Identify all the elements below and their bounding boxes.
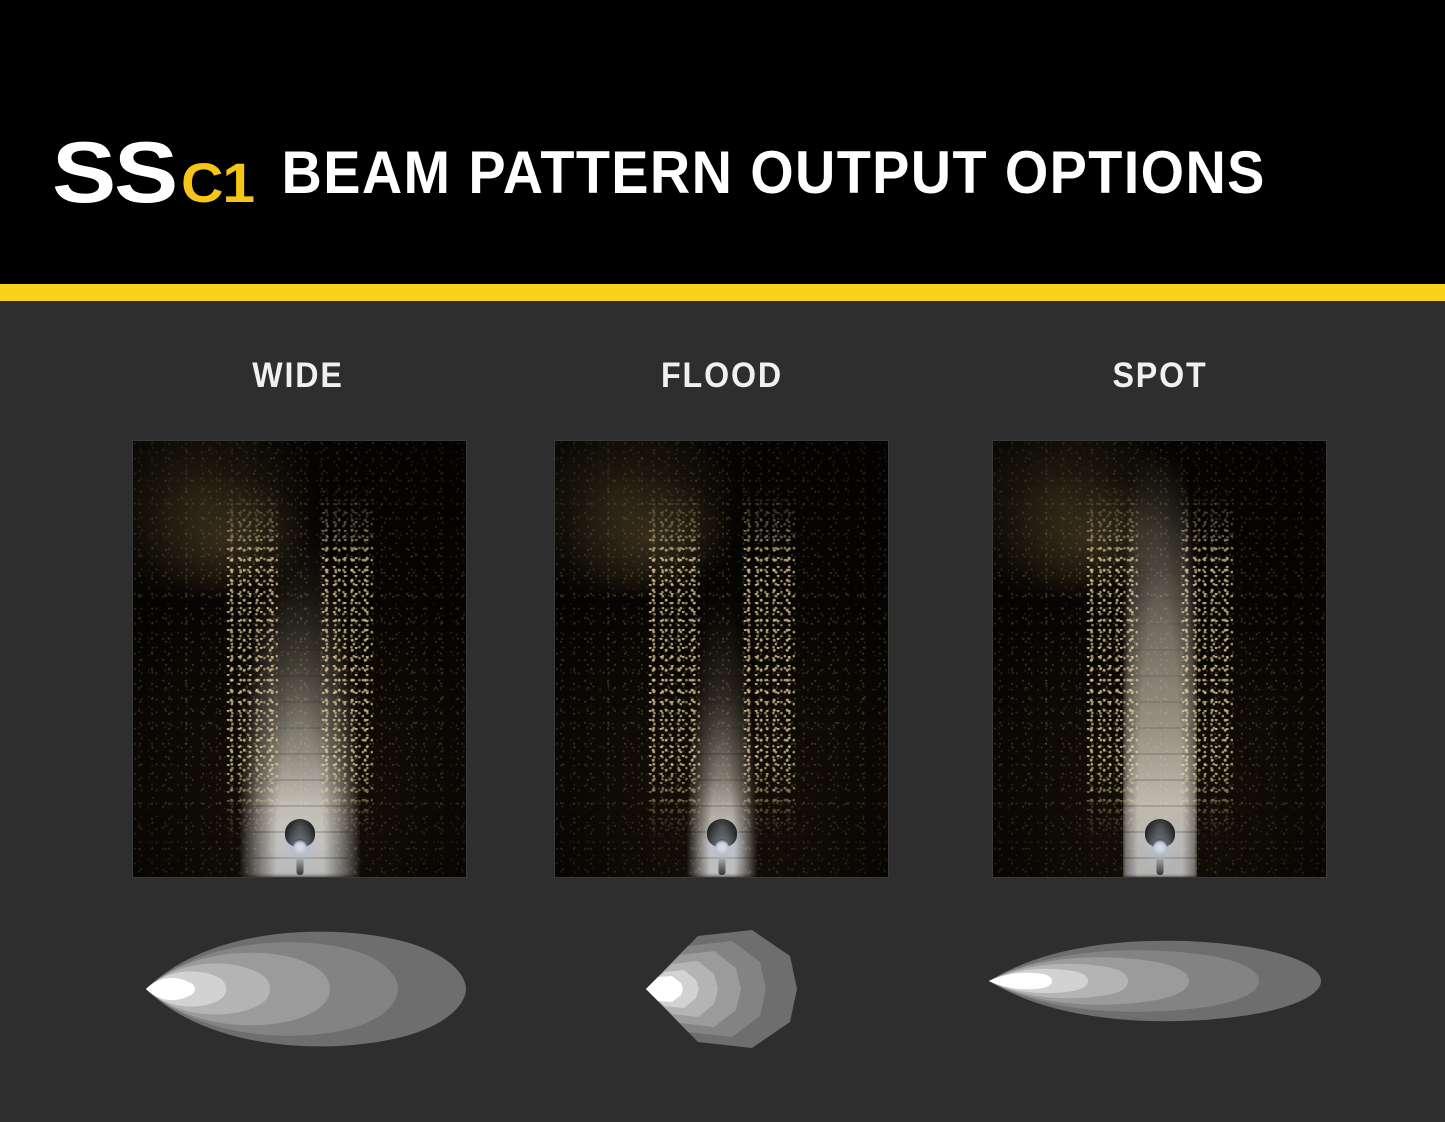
column-label-spot: SPOT — [1004, 358, 1317, 393]
light-source-tail — [718, 857, 725, 875]
photo-road-ruts-wide — [252, 519, 348, 859]
column-label-wide: WIDE — [142, 358, 455, 393]
beam-photo-spot — [993, 441, 1326, 877]
flood-beam-pattern-diagram — [640, 922, 815, 1057]
beam-photo-wide — [133, 441, 466, 877]
header-bar: SS C1 BEAM PATTERN OUTPUT OPTIONS — [0, 0, 1445, 284]
light-source-lamp — [714, 839, 729, 857]
spot-beam-pattern-svg — [985, 922, 1325, 1040]
beam-photo-flood — [555, 441, 888, 877]
page-title: BEAM PATTERN OUTPUT OPTIONS — [51, 143, 1395, 203]
light-source-lamp — [1152, 839, 1167, 857]
photo-light-source-wide — [283, 819, 317, 875]
photo-road-ruts-spot — [1112, 519, 1208, 859]
light-source-tail — [1156, 857, 1163, 875]
column-label-flood: FLOOD — [566, 358, 879, 393]
spot-lobe-core — [989, 973, 1052, 990]
photo-light-source-flood — [705, 819, 739, 875]
light-source-lamp — [292, 839, 307, 857]
wide-beam-pattern-diagram — [140, 922, 470, 1057]
photo-light-source-spot — [1143, 819, 1177, 875]
photo-road-ruts-flood — [674, 519, 770, 859]
yellow-accent-divider — [0, 284, 1445, 301]
flood-beam-pattern-svg — [640, 922, 815, 1057]
beam-pattern-infographic: SS C1 BEAM PATTERN OUTPUT OPTIONS WIDE F… — [0, 0, 1445, 1122]
wide-beam-pattern-svg — [140, 922, 470, 1057]
spot-beam-pattern-diagram — [985, 922, 1325, 1040]
light-source-tail — [296, 857, 303, 875]
